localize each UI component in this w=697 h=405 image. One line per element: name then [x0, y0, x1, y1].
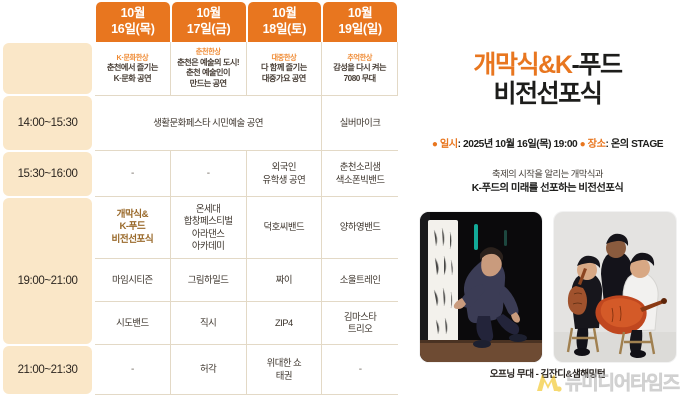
date-day: 17일(금) [187, 22, 230, 38]
table-cell: 마임시티즌 [95, 259, 171, 302]
meta-place-value: 온의 STAGE [611, 139, 663, 150]
cell-line: 덕호씨밴드 [264, 221, 305, 233]
table-cell: 김마스타 트리오 [322, 302, 398, 345]
table-cell: 생활문화페스타 시민예술 공연 [95, 95, 322, 151]
promo-photo-opening-stage [420, 212, 542, 362]
date-month: 10월 [272, 6, 297, 22]
theme-desc-line: 춘천 예술인이 [186, 68, 230, 79]
theme-cell-col3: 대중한상 다 함께 즐기는 대중가요 공연 [247, 42, 323, 95]
watermark-logo-icon [536, 371, 562, 393]
cell-line: 허각 [200, 363, 216, 375]
time-label-3: 19:00~21:00 [3, 259, 92, 302]
theme-desc-line: 춘천에서 즐기는 [107, 63, 158, 74]
date-month: 10월 [348, 6, 373, 22]
poster-root: 10월 16일(목) 10월 17일(금) 10월 18일(토) 10월 19일… [0, 0, 697, 405]
theme-cell-col1: K·문화한상 춘천에서 즐기는 K·문화 공연 [95, 42, 171, 95]
table-cell: 위대한 쇼 태권 [247, 345, 323, 395]
theme-cell-col4: 추억한상 감성을 다시 켜는 7080 무대 [322, 42, 398, 95]
cell-line: 아라댄스 [192, 228, 225, 240]
cell-line: - [359, 363, 362, 376]
table-cell: - [95, 345, 171, 395]
theme-desc-line: 다 함께 즐기는 [261, 63, 307, 74]
cell-line: 양하영밴드 [340, 221, 381, 233]
theme-tag: 춘천한상 [196, 47, 221, 56]
time-label-4: 21:00~21:30 [3, 346, 92, 394]
date-day: 18일(토) [263, 22, 306, 38]
cell-line: 생활문화페스타 시민예술 공연 [153, 117, 263, 129]
cell-line: 위대한 쇼 [267, 357, 302, 369]
promo-title-line1: 개막식&K-푸드 [398, 52, 697, 79]
cell-line: 합창페스티벌 [184, 215, 233, 227]
table-cell: 실버마이크 [322, 95, 398, 151]
promo-panel: 개막식&K-푸드 비전선포식 ● 일시: 2025년 10월 16일(목) 19… [398, 0, 697, 405]
cell-line: 그림하일드 [188, 274, 229, 286]
date-day: 19일(일) [338, 22, 381, 38]
theme-tag: K·문화한상 [117, 53, 149, 62]
time-blank-cell [3, 43, 92, 94]
table-cell: 짜이 [247, 259, 323, 302]
theme-desc-line: 대중가요 공연 [262, 74, 306, 85]
cell-line: 아카데미 [192, 240, 225, 252]
bullet-icon: ● [580, 139, 586, 150]
watermark: 뉴미디어타임즈 [536, 368, 679, 395]
table-cell: 덕호씨밴드 [247, 197, 323, 259]
meta-date-label: 일시 [440, 139, 458, 150]
theme-desc-line: 만드는 공연 [190, 79, 227, 90]
promo-title-line2: 비전선포식 [398, 80, 697, 108]
table-cell: 외국인 유학생 공연 [247, 151, 323, 197]
bullet-icon: ● [432, 139, 438, 150]
date-header-col4: 10월 19일(일) [323, 2, 397, 42]
promo-meta: ● 일시: 2025년 10월 16일(목) 19:00 ● 장소: 온의 ST… [398, 135, 697, 150]
table-cell: 직시 [171, 302, 247, 345]
cell-line: K-푸드 [119, 221, 145, 234]
table-cell: - [171, 151, 247, 197]
cell-line: - [207, 167, 210, 180]
promo-title-orange: 개막식&K [473, 51, 571, 79]
date-month: 10월 [121, 6, 146, 22]
table-cell: - [322, 345, 398, 395]
meta-separator: : [606, 139, 609, 150]
theme-desc-line: K·문화 공연 [114, 74, 152, 85]
cell-line: 개막식& [117, 209, 148, 222]
watermark-text: 뉴미디어타임즈 [565, 368, 679, 395]
cell-line: 직시 [200, 317, 216, 329]
table-cell: 온세대 합창페스티벌 아라댄스 아카데미 [171, 197, 247, 259]
date-header-col1: 10월 16일(목) [96, 2, 170, 42]
cell-line: 온세대 [196, 203, 220, 215]
date-day: 16일(목) [111, 22, 154, 38]
time-label-2: 15:30~16:00 [3, 152, 92, 196]
table-cell-highlight: 개막식& K-푸드 비전선포식 [95, 197, 171, 259]
cell-line: 춘천소리샘 [340, 161, 381, 173]
table-cell: 춘천소리샘 색소폰빅밴드 [322, 151, 398, 197]
theme-desc-line: 감성을 다시 켜는 [333, 63, 386, 74]
theme-desc-line: 춘천은 예술의 도시! [177, 58, 239, 69]
cell-line: 시도밴드 [116, 317, 149, 329]
table-cell: 양하영밴드 [322, 197, 398, 259]
cell-line: 유학생 공연 [263, 174, 306, 186]
promo-title-block: 개막식&K-푸드 비전선포식 [398, 52, 697, 108]
meta-separator: : [458, 139, 461, 150]
time-merge-top [3, 198, 92, 259]
promo-photo-string-trio [554, 212, 676, 362]
cell-line: 색소폰빅밴드 [336, 174, 385, 186]
opening-stage-photo-illustration [420, 212, 542, 362]
cell-line: - [131, 363, 134, 376]
table-cell: - [95, 151, 171, 197]
cell-line: 외국인 [272, 161, 296, 173]
table-cell: 그림하일드 [171, 259, 247, 302]
table-cell: ZIP4 [247, 302, 323, 345]
promo-description: 축제의 시작을 알리는 개막식과 K-푸드의 미래를 선포하는 비전선포식 [398, 167, 697, 197]
cell-line: 마임시티즌 [112, 274, 153, 286]
table-corner [0, 0, 95, 42]
cell-line: 짜이 [276, 274, 292, 286]
date-header-col3: 10월 18일(토) [248, 2, 322, 42]
date-header-col2: 10월 17일(금) [172, 2, 246, 42]
promo-desc-line1: 축제의 시작을 알리는 개막식과 [398, 167, 697, 181]
cell-line: 김마스타 [344, 311, 377, 323]
date-month: 10월 [196, 6, 221, 22]
promo-title-rest: -푸드 [571, 51, 621, 79]
cell-line: 비전선포식 [112, 234, 154, 247]
meta-date-value: 2025년 10월 16일(목) 19:00 [463, 139, 577, 150]
time-merge-bottom [3, 302, 92, 344]
theme-tag: 대중한상 [271, 53, 296, 62]
schedule-table: 10월 16일(목) 10월 17일(금) 10월 18일(토) 10월 19일… [0, 0, 398, 405]
promo-desc-line2: K-푸드의 미래를 선포하는 비전선포식 [398, 181, 697, 197]
table-cell: 소울트레인 [322, 259, 398, 302]
theme-tag: 추억한상 [347, 53, 372, 62]
meta-place-label: 장소 [588, 139, 606, 150]
theme-desc-line: 7080 무대 [344, 74, 376, 85]
table-cell: 허각 [171, 345, 247, 395]
cell-line: 태권 [276, 370, 292, 382]
schedule-grid: 10월 16일(목) 10월 17일(금) 10월 18일(토) 10월 19일… [0, 0, 398, 405]
cell-line: 트리오 [348, 323, 372, 335]
cell-line: ZIP4 [275, 317, 293, 329]
promo-photo-row [420, 212, 676, 364]
string-trio-photo-illustration [554, 212, 676, 362]
cell-line: - [131, 167, 134, 180]
theme-cell-col2: 춘천한상 춘천은 예술의 도시! 춘천 예술인이 만드는 공연 [171, 42, 247, 95]
table-cell: 시도밴드 [95, 302, 171, 345]
cell-line: 실버마이크 [340, 117, 381, 129]
time-label-1: 14:00~15:30 [3, 96, 92, 150]
cell-line: 소울트레인 [340, 274, 381, 286]
